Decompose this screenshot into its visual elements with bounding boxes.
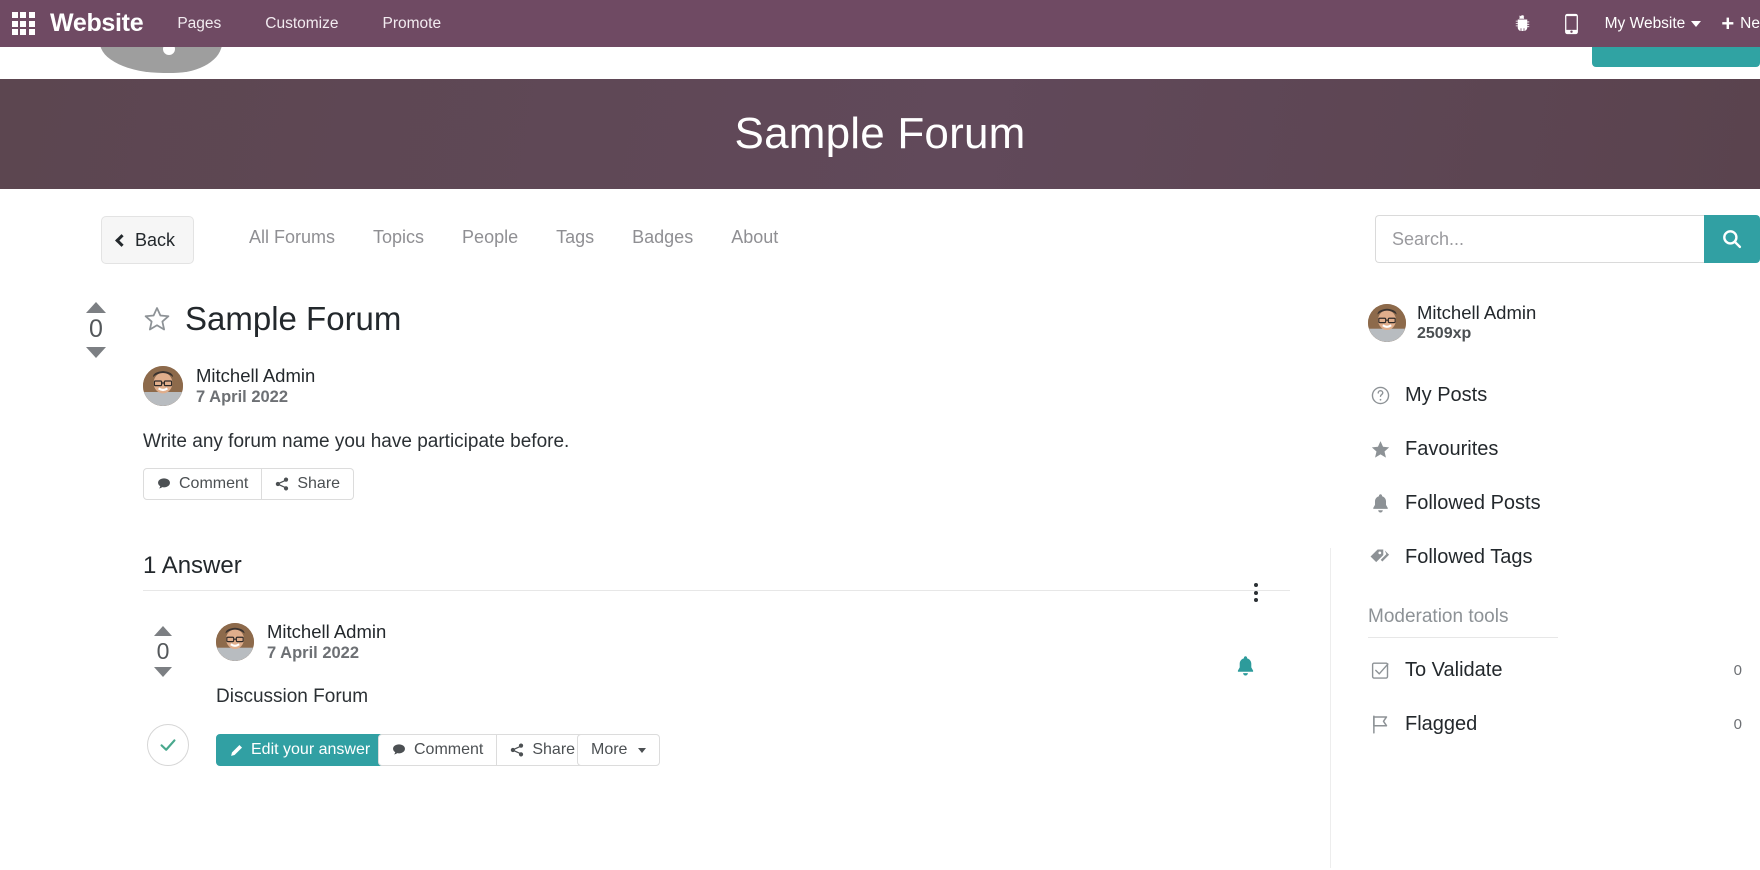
share-icon [510,743,524,757]
nav-item-people[interactable]: People [443,227,537,248]
website-header-partial [0,47,1760,79]
forum-banner: Sample Forum [0,79,1760,189]
question-vote-widget: 0 [86,302,106,358]
answer-body: Discussion Forum [216,686,368,708]
sidebar-user-name: Mitchell Admin [1417,302,1536,324]
check-square-icon [1368,660,1392,681]
question-share-button[interactable]: Share [262,468,354,500]
new-button-label: Ne [1740,15,1760,33]
search-button[interactable] [1704,215,1760,263]
apps-grid-icon[interactable] [0,0,46,47]
star-outline-icon[interactable] [143,305,171,333]
back-button[interactable]: Back [101,216,194,264]
site-menu-partial [600,47,604,57]
comment-icon [392,743,406,757]
mobile-preview-icon[interactable] [1548,13,1595,35]
answer-comment-button[interactable]: Comment [378,734,497,766]
forum-nav-links: All Forums Topics People Tags Badges Abo… [230,227,797,248]
answer-share-button[interactable]: Share [497,734,589,766]
editor-menu-promote[interactable]: Promote [360,15,463,33]
nav-item-all-forums[interactable]: All Forums [230,227,354,248]
question-actions: Comment Share [143,468,354,500]
sidebar-item-flagged[interactable]: Flagged 0 [1368,698,1760,752]
sidebar-item-label: Favourites [1405,438,1760,461]
follow-bell-icon[interactable] [1235,655,1256,682]
answer-vote-widget: 0 [154,626,172,677]
sidebar-divider [1330,548,1331,868]
question-title-row: Sample Forum [143,300,401,338]
sidebar-item-label: Followed Tags [1405,546,1760,569]
star-icon [1368,439,1392,460]
question-body: Write any forum name you have participat… [143,431,569,453]
question-share-label: Share [297,475,340,493]
avatar[interactable] [216,623,254,661]
back-button-label: Back [135,230,175,251]
upvote-icon[interactable] [86,302,106,313]
nav-item-tags[interactable]: Tags [537,227,613,248]
accepted-answer-toggle[interactable] [147,724,189,766]
search-icon [1721,228,1743,250]
search-input[interactable] [1375,215,1704,263]
comment-icon [157,477,171,491]
site-logo[interactable] [100,47,222,73]
avatar[interactable] [1368,304,1406,342]
new-button[interactable]: + Ne [1711,13,1760,35]
question-author-name: Mitchell Admin [196,364,315,387]
sidebar-item-label: My Posts [1405,384,1760,407]
downvote-icon[interactable] [154,667,172,677]
nav-item-about[interactable]: About [712,227,797,248]
moderation-divider [1368,637,1558,638]
flag-icon [1368,714,1392,735]
question-circle-icon [1368,385,1392,406]
answer-more-label: More [591,741,627,759]
sidebar-item-to-validate[interactable]: To Validate 0 [1368,644,1760,698]
downvote-icon[interactable] [86,347,106,358]
edit-your-answer-button[interactable]: Edit your answer [216,734,384,766]
question-comment-button[interactable]: Comment [143,468,262,500]
chevron-down-icon [1691,21,1701,27]
share-icon [275,477,289,491]
question-comment-label: Comment [179,475,248,493]
page-title: Sample Forum [735,109,1026,159]
website-selector-label: My Website [1605,15,1686,33]
edit-your-answer-label: Edit your answer [251,741,370,759]
plus-icon: + [1721,13,1734,35]
check-circle-icon [157,734,179,756]
forum-nav-bar: Back All Forums Topics People Tags Badge… [0,189,1760,274]
sidebar-user-card[interactable]: Mitchell Admin 2509xp [1368,302,1760,345]
sidebar-item-label: Followed Posts [1405,492,1760,515]
status-badge: 0 [1734,662,1760,679]
forum-sidebar: Mitchell Admin 2509xp My Posts Favourite… [1368,302,1760,752]
answer-share-label: Share [532,741,575,759]
sidebar-item-favourites[interactable]: Favourites [1368,423,1760,477]
sidebar-item-label: To Validate [1405,659,1721,682]
nav-item-topics[interactable]: Topics [354,227,443,248]
website-selector-dropdown[interactable]: My Website [1595,15,1712,33]
editor-menu-pages[interactable]: Pages [155,15,243,33]
sidebar-item-my-posts[interactable]: My Posts [1368,369,1760,423]
editor-menu-customize[interactable]: Customize [243,15,360,33]
question-vote-count: 0 [89,316,103,344]
sidebar-user-meta: Mitchell Admin 2509xp [1417,302,1536,345]
sidebar-item-label: Flagged [1405,713,1721,736]
question-author-date: 7 April 2022 [196,387,315,408]
answer-vote-count: 0 [157,639,170,664]
status-badge: 0 [1734,716,1760,733]
answers-divider [143,590,1290,591]
answers-heading: 1 Answer [143,552,242,580]
sidebar-item-followed-tags[interactable]: Followed Tags [1368,531,1760,585]
answer-author-date: 7 April 2022 [267,643,386,664]
bug-icon[interactable] [1497,14,1548,33]
more-options-icon[interactable] [1250,579,1262,606]
chevron-left-icon [115,234,128,247]
sidebar-user-xp: 2509xp [1417,324,1536,345]
app-brand-website[interactable]: Website [46,9,155,38]
caret-down-icon [638,748,646,753]
answer-comment-label: Comment [414,741,483,759]
avatar[interactable] [143,366,183,406]
odoo-editor-navbar: Website Pages Customize Promote My Websi… [0,0,1760,47]
answer-author-meta: Mitchell Admin 7 April 2022 [267,620,386,665]
question-author-row: Mitchell Admin 7 April 2022 [143,364,315,409]
bell-icon [1368,493,1392,514]
answer-author-name: Mitchell Admin [267,620,386,643]
answer-actions: Comment Share [378,734,589,766]
moderation-tools-title: Moderation tools [1368,585,1760,637]
tag-icon [1368,548,1392,568]
pencil-icon [230,744,243,757]
answer-author-row: Mitchell Admin 7 April 2022 [216,620,386,665]
question-title: Sample Forum [185,300,401,338]
answer-more-button[interactable]: More [577,734,660,766]
site-header-cta-button[interactable] [1592,47,1760,67]
question-author-meta: Mitchell Admin 7 April 2022 [196,364,315,409]
sidebar-item-followed-posts[interactable]: Followed Posts [1368,477,1760,531]
upvote-icon[interactable] [154,626,172,636]
nav-item-badges[interactable]: Badges [613,227,712,248]
forum-search [1375,215,1760,263]
